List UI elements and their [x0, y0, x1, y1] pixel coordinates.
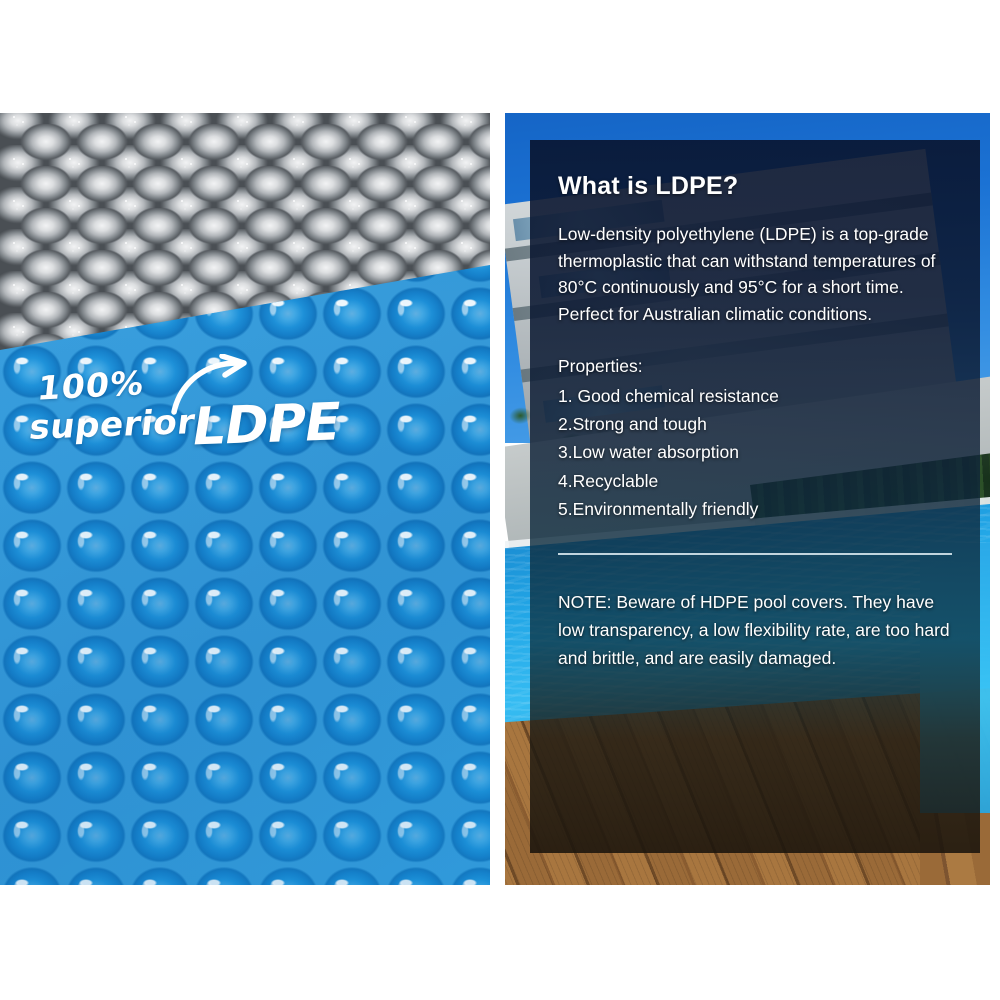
handwritten-callout: 100% superior LDPE [30, 366, 350, 486]
ldpe-info-card: What is LDPE? Low-density polyethylene (… [530, 140, 980, 853]
card-divider [558, 553, 952, 555]
right-info-panel: What is LDPE? Low-density polyethylene (… [505, 113, 990, 885]
handwriting-line-2: superior [27, 402, 197, 448]
list-item: 1. Good chemical resistance [558, 382, 952, 410]
material-diagonal-divider [0, 113, 490, 885]
properties-list: 1. Good chemical resistance 2.Strong and… [558, 382, 952, 524]
properties-label: Properties: [558, 353, 952, 379]
list-item: 2.Strong and tough [558, 410, 952, 438]
list-item: 5.Environmentally friendly [558, 495, 952, 523]
list-item: 3.Low water absorption [558, 438, 952, 466]
handwriting-ldpe-word: LDPE [188, 392, 344, 457]
card-title: What is LDPE? [558, 172, 952, 201]
card-intro-paragraph: Low-density polyethylene (LDPE) is a top… [558, 221, 952, 327]
left-product-panel: 100% superior LDPE [0, 113, 490, 885]
list-item: 4.Recyclable [558, 467, 952, 495]
card-note-paragraph: NOTE: Beware of HDPE pool covers. They h… [558, 589, 952, 672]
handwriting-line-1: 100% [36, 363, 147, 407]
